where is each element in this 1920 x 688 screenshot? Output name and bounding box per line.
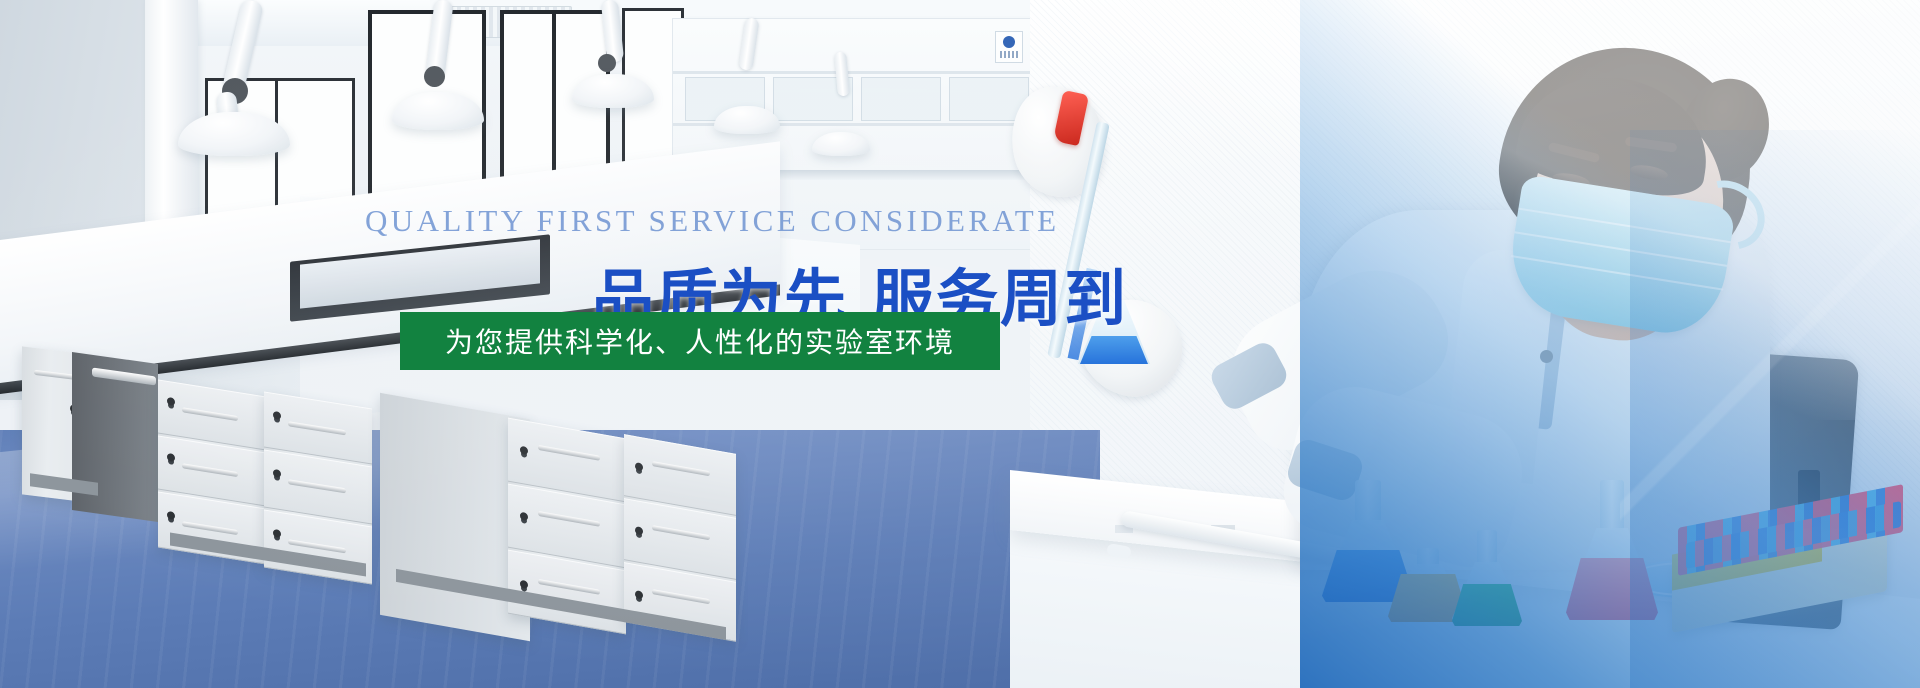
extraction-arm-joint bbox=[424, 66, 445, 87]
shelf-line bbox=[673, 71, 1043, 74]
drawer-lock-icon bbox=[167, 453, 175, 462]
banner-subtitle-bar[interactable]: 为您提供科学化、人性化的实验室环境 bbox=[400, 312, 1000, 370]
chevron-accent bbox=[1620, 150, 1920, 580]
drawer-lock-icon bbox=[273, 529, 281, 538]
glass-door bbox=[861, 77, 941, 121]
hero-banner: QUALITY FIRST SERVICE CONSIDERATE 品质为先服务… bbox=[0, 0, 1920, 688]
extraction-arm-joint bbox=[598, 54, 616, 72]
drawer-lock-icon bbox=[273, 411, 281, 420]
drawer-lock-icon bbox=[167, 511, 175, 520]
drawer-lock-icon bbox=[273, 469, 281, 478]
banner-subtitle-text: 为您提供科学化、人性化的实验室环境 bbox=[445, 321, 955, 361]
held-flask-liquid bbox=[1080, 336, 1148, 364]
safety-sticker-icon bbox=[995, 31, 1023, 63]
drawer-lock-icon bbox=[167, 397, 175, 406]
drawer-stack-d bbox=[624, 434, 736, 640]
